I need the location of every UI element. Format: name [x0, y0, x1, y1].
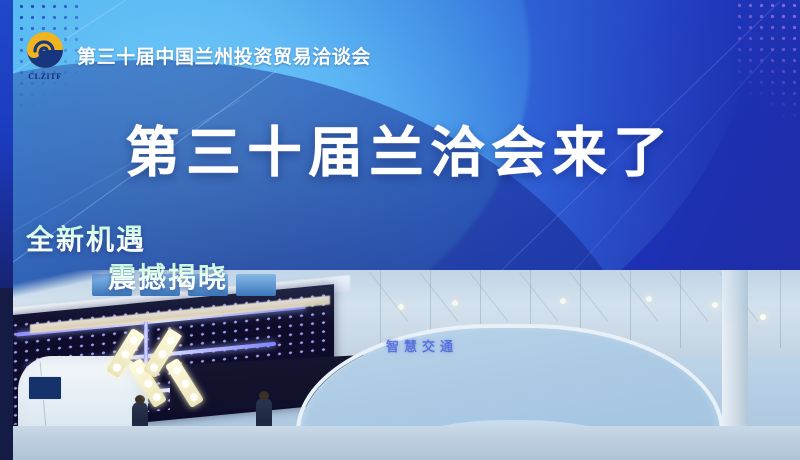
organization-title: 第三十届中国兰州投资贸易洽谈会	[77, 42, 371, 69]
subtitle-line-2: 震撼揭晓	[108, 256, 228, 296]
exhibition-hall-photo: E2	[0, 270, 800, 460]
dot-pattern-right-icon	[734, 0, 800, 120]
main-title: 第三十届兰洽会来了	[0, 108, 800, 187]
logo-wordmark: CLZITF	[22, 72, 68, 81]
smart-transport-sign: 智慧交通	[386, 336, 458, 355]
promo-banner: E2	[0, 0, 800, 460]
subtitle-line-1: 全新机遇	[26, 218, 146, 258]
hall-floor	[0, 426, 800, 460]
clzitf-logo-icon: CLZITF	[22, 30, 68, 80]
left-edge-strip-dark	[0, 288, 13, 460]
banner-header: CLZITF 第三十届中国兰州投资贸易洽谈会	[22, 30, 371, 80]
